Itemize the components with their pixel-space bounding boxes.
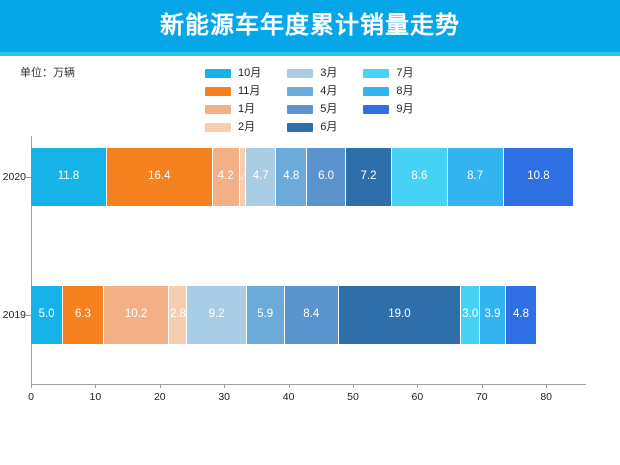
bar-segment-value: 3.0 (462, 309, 478, 321)
bar-segment-value: 2.8 (170, 309, 186, 321)
legend-swatch-icon (363, 105, 389, 114)
bar-segment-2019-9月[interactable]: 4.8 (506, 286, 537, 344)
bar-segment-value: 4.2 (218, 171, 234, 183)
legend-swatch-icon (287, 105, 313, 114)
bar-segment-value: 4.8 (513, 309, 529, 321)
x-axis-line (31, 384, 586, 385)
legend-column: 10月11月1月2月 (205, 66, 261, 135)
x-tick-mark (482, 384, 483, 388)
bar-segment-value: 19.0 (388, 309, 410, 321)
bar-segment-2019-4月[interactable]: 5.9 (247, 286, 285, 344)
legend-swatch-icon (287, 87, 313, 96)
bar-segment-value: 3.9 (485, 309, 501, 321)
legend-item-8月[interactable]: 8月 (363, 84, 413, 99)
bar-segment-value: 8.7 (467, 171, 483, 183)
legend-swatch-icon (205, 87, 231, 96)
bar-segment-2019-7月[interactable]: 3.0 (461, 286, 480, 344)
bar-segment-2020-8月[interactable]: 8.7 (448, 148, 504, 206)
legend-item-11月[interactable]: 11月 (205, 84, 261, 99)
legend-item-2月[interactable]: 2月 (205, 120, 261, 135)
bar-segment-2019-6月[interactable]: 19.0 (339, 286, 461, 344)
y-tick-label-2019: 2019 (0, 309, 26, 321)
legend-item-label: 1月 (238, 104, 255, 115)
legend-item-10月[interactable]: 10月 (205, 66, 261, 81)
x-tick-label: 20 (145, 391, 175, 403)
page-title: 新能源车年度累计销量走势 (160, 14, 460, 38)
bar-segment-2020-4月[interactable]: 4.8 (276, 148, 307, 206)
bar-segment-2019-1月[interactable]: 10.2 (104, 286, 170, 344)
x-tick-label: 50 (338, 391, 368, 403)
bar-segment-2019-10月[interactable]: 5.0 (31, 286, 63, 344)
bar-segment-2020-6月[interactable]: 7.2 (346, 148, 392, 206)
legend-column: 3月4月5月6月 (287, 66, 337, 135)
legend-item-label: 8月 (396, 86, 413, 97)
legend-item-label: 10月 (238, 68, 261, 79)
bar-segment-2019-11月[interactable]: 6.3 (63, 286, 104, 344)
x-tick-mark (160, 384, 161, 388)
bar-segment-2020-7月[interactable]: 8.6 (392, 148, 447, 206)
x-tick-mark (289, 384, 290, 388)
bar-segment-2019-8月[interactable]: 3.9 (480, 286, 505, 344)
legend-item-label: 2月 (238, 122, 255, 133)
x-tick-label: 60 (402, 391, 432, 403)
legend-item-label: 9月 (396, 104, 413, 115)
legend-item-label: 6月 (320, 122, 337, 133)
bar-segment-value: 4.7 (253, 171, 269, 183)
chart-page: 新能源车年度累计销量走势 单位：万辆 10月11月1月2月3月4月5月6月7月8… (0, 0, 620, 465)
x-tick-label: 40 (274, 391, 304, 403)
bar-segment-value: 16.4 (148, 171, 170, 183)
legend-item-9月[interactable]: 9月 (363, 102, 413, 117)
legend-swatch-icon (205, 105, 231, 114)
bar-track: 11.816.44.21.04.74.86.07.28.68.710.8 (31, 148, 573, 206)
unit-note: 单位：万辆 (20, 64, 75, 80)
x-tick-mark (353, 384, 354, 388)
x-tick-label: 10 (80, 391, 110, 403)
legend-item-label: 5月 (320, 104, 337, 115)
legend-item-3月[interactable]: 3月 (287, 66, 337, 81)
legend-item-4月[interactable]: 4月 (287, 84, 337, 99)
bar-segment-2020-11月[interactable]: 16.4 (107, 148, 213, 206)
bar-segment-2020-5月[interactable]: 6.0 (307, 148, 346, 206)
legend-item-5月[interactable]: 5月 (287, 102, 337, 117)
bar-segment-value: 8.4 (303, 309, 319, 321)
bar-segment-value: 7.2 (361, 171, 377, 183)
bar-segment-2020-10月[interactable]: 11.8 (31, 148, 107, 206)
bar-segment-value: 10.8 (527, 171, 549, 183)
x-tick-label: 30 (209, 391, 239, 403)
x-tick-mark (95, 384, 96, 388)
bar-segment-value: 4.8 (283, 171, 299, 183)
bar-segment-2020-9月[interactable]: 10.8 (504, 148, 574, 206)
legend-swatch-icon (363, 69, 389, 78)
legend-column: 7月8月9月 (363, 66, 413, 135)
bar-segment-value: 8.6 (411, 171, 427, 183)
x-tick-mark (546, 384, 547, 388)
bar-segment-value: 6.0 (318, 171, 334, 183)
bar-segment-value: 9.2 (209, 309, 225, 321)
y-tick-label-2020: 2020 (0, 171, 26, 183)
x-tick-mark (31, 384, 32, 388)
legend-swatch-icon (287, 69, 313, 78)
title-bar: 新能源车年度累计销量走势 (0, 0, 620, 52)
legend-item-1月[interactable]: 1月 (205, 102, 261, 117)
legend-item-label: 4月 (320, 86, 337, 97)
x-tick-mark (224, 384, 225, 388)
plot-area: 202011.816.44.21.04.74.86.07.28.68.710.8… (0, 136, 620, 396)
legend-swatch-icon (363, 87, 389, 96)
bar-segment-value: 5.0 (39, 309, 55, 321)
x-tick-label: 0 (16, 391, 46, 403)
bar-track: 5.06.310.22.89.25.98.419.03.03.94.8 (31, 286, 536, 344)
legend-item-7月[interactable]: 7月 (363, 66, 413, 81)
legend-item-label: 3月 (320, 68, 337, 79)
bar-segment-value: 5.9 (257, 309, 273, 321)
bar-segment-value: 6.3 (75, 309, 91, 321)
x-tick-label: 80 (531, 391, 561, 403)
bar-segment-2019-2月[interactable]: 2.8 (169, 286, 187, 344)
x-tick-mark (417, 384, 418, 388)
bar-segment-value: 10.2 (125, 309, 147, 321)
chart-legend: 10月11月1月2月3月4月5月6月7月8月9月 (205, 66, 455, 135)
x-tick-label: 70 (467, 391, 497, 403)
legend-item-label: 7月 (396, 68, 413, 79)
legend-swatch-icon (205, 69, 231, 78)
legend-swatch-icon (287, 123, 313, 132)
title-bar-accent (0, 52, 620, 56)
legend-item-6月[interactable]: 6月 (287, 120, 337, 135)
legend-swatch-icon (205, 123, 231, 132)
bar-segment-2020-3月[interactable]: 4.7 (246, 148, 276, 206)
bar-segment-2019-5月[interactable]: 8.4 (285, 286, 339, 344)
bar-segment-value: 11.8 (58, 171, 80, 183)
legend-item-label: 11月 (238, 86, 260, 97)
bar-segment-2020-1月[interactable]: 4.2 (213, 148, 240, 206)
bar-segment-2019-3月[interactable]: 9.2 (187, 286, 246, 344)
